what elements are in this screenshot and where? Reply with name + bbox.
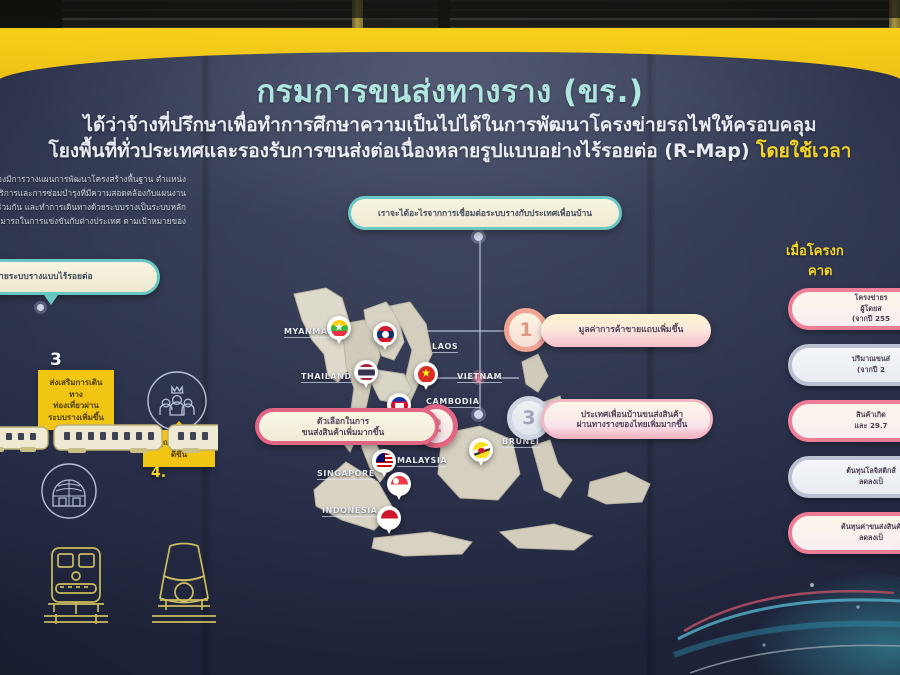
callout-2-pill: ตัวเลือกในการ ขนส่งสินค้าเพิ่มมากขึ้น xyxy=(255,408,439,445)
right-result-item-2: ปริมาณขนส่ (จากปี 2 xyxy=(788,344,900,386)
right-result-item-4: ต้นทุนโลจิสติกส์ ลดลงเป็ xyxy=(788,456,900,498)
right-panel-heading-1: เมื่อโครงก xyxy=(786,240,900,261)
left-pill-tail xyxy=(44,295,58,305)
callout-2-label-line2: ขนส่งสินค้าเพิ่มมากขึ้น xyxy=(302,427,384,437)
subtitle-line-2-highlight: โดยใช้เวลา xyxy=(756,140,851,162)
callout-1-number: 1 xyxy=(519,319,532,341)
left-seamless-network-pill: จากโครงข่ายระบบรางแบบไร้รอยต่อ xyxy=(0,259,160,295)
right-result-item-3: สินค้าเกิด และ 29.7 xyxy=(788,400,900,442)
callout-3-label: ประเทศเพื่อนบ้านขนส่งสินค้า ผ่านทางรางขอ… xyxy=(577,409,688,430)
map-label-laos: LAOS xyxy=(432,342,458,351)
top-question-pill: เราจะได้อะไรจากการเชื่อมต่อระบบรางกับประ… xyxy=(348,196,622,230)
map-label-vietnam: VIETNAM xyxy=(457,372,502,381)
right-result-item-1-text: โครงข่ายร ผู้โดยส (จากปี 255 xyxy=(852,293,890,325)
left-copy-line: ม จึงจำเป็นต้องมีการวางแผนการพัฒนาโครงสร… xyxy=(0,172,186,186)
right-result-item-2-text: ปริมาณขนส่ (จากปี 2 xyxy=(852,354,890,376)
left-copy-line: พัฒนาความสามารถในการแข่งขันกับต่างประเทศ… xyxy=(0,214,186,228)
flag-pin-indonesia xyxy=(377,506,401,535)
flag-pin-vietnam xyxy=(414,362,438,391)
station-icon xyxy=(40,462,98,520)
train-front-icon xyxy=(38,542,114,626)
callout-3-number: 3 xyxy=(522,407,535,429)
subtitle-line-2-plain: โยงพื้นที่ทั่วประเทศและรองรับการขนส่งต่อ… xyxy=(49,140,757,162)
callout-1-label: มูลค่าการค้าขายแถบเพิ่มขึ้น xyxy=(579,325,684,336)
passenger-train-icon xyxy=(0,421,218,457)
left-pill-node xyxy=(37,304,44,311)
flag-pin-singapore xyxy=(387,472,411,501)
right-result-item-3-text: สินค้าเกิด และ 29.7 xyxy=(854,410,887,432)
callout-1-pill: มูลค่าการค้าขายแถบเพิ่มขึ้น xyxy=(541,314,711,347)
page-title: กรมการขนส่งทางราง (ขร.) xyxy=(0,66,900,116)
left-seamless-network-pill-label: จากโครงข่ายระบบรางแบบไร้รอยต่อ xyxy=(0,272,93,283)
locomotive-front-icon xyxy=(144,538,224,626)
callout-2-label: ตัวเลือกในการ ขนส่งสินค้าเพิ่มมากขึ้น xyxy=(302,416,384,437)
left-copy-line: รด้านการให้บริการและการซ่อมบำรุงที่มีควา… xyxy=(0,186,186,200)
left-copy-line: นาบูรณาการร่วมกัน และทำการเดินทางด้วยระบ… xyxy=(0,200,186,214)
flag-pin-thailand xyxy=(354,360,378,389)
left-step-number-3: 3 xyxy=(50,350,62,370)
right-panel-heading-2: คาด xyxy=(808,260,900,281)
connector-node-top xyxy=(474,232,483,241)
sticky-tourism-line-1: ส่งเสริมการเดินทาง xyxy=(44,377,108,400)
screenshot-root: กรมการขนส่งทางราง (ขร.) ได้ว่าจ้างที่ปรึ… xyxy=(0,0,900,675)
sticky-tourism-line-2: ท่องเที่ยวผ่าน xyxy=(44,400,108,412)
map-label-thailand: THAILAND xyxy=(301,372,352,381)
map-label-malaysia: MALAYSIA xyxy=(397,456,447,465)
flag-pin-myanmar xyxy=(327,316,351,345)
right-result-item-5-text: ต้นทุนค่าขนส่งสินค้ ลดลงเป็ xyxy=(841,522,900,544)
callout-3-label-line1: ประเทศเพื่อนบ้านขนส่งสินค้า xyxy=(581,409,683,419)
right-result-item-5: ต้นทุนค่าขนส่งสินค้ ลดลงเป็ xyxy=(788,512,900,554)
callout-3-pill: ประเทศเพื่อนบ้านขนส่งสินค้า ผ่านทางรางขอ… xyxy=(541,399,713,439)
map-label-singapore: SINGAPORE xyxy=(317,469,375,478)
left-step-number-4: 4. xyxy=(151,465,166,481)
callout-3-label-line2: ผ่านทางรางของไทยเพิ่มมากขึ้น xyxy=(577,419,688,429)
left-body-copy: ม จึงจำเป็นต้องมีการวางแผนการพัฒนาโครงสร… xyxy=(0,172,186,228)
top-question-pill-label: เราจะได้อะไรจากการเชื่อมต่อระบบรางกับประ… xyxy=(378,208,592,219)
banner-board: กรมการขนส่งทางราง (ขร.) ได้ว่าจ้างที่ปรึ… xyxy=(0,52,900,675)
right-result-item-4-text: ต้นทุนโลจิสติกส์ ลดลงเป็ xyxy=(846,466,896,488)
callout-2-label-line1: ตัวเลือกในการ xyxy=(317,416,369,426)
right-result-item-1: โครงข่ายร ผู้โดยส (จากปี 255 xyxy=(788,288,900,330)
flag-pin-laos xyxy=(373,322,397,351)
subtitle-line-2: โยงพื้นที่ทั่วประเทศและรองรับการขนส่งต่อ… xyxy=(0,136,900,166)
map-label-indonesia: INDONESIA xyxy=(322,506,378,515)
flag-pin-brunei xyxy=(469,438,493,467)
